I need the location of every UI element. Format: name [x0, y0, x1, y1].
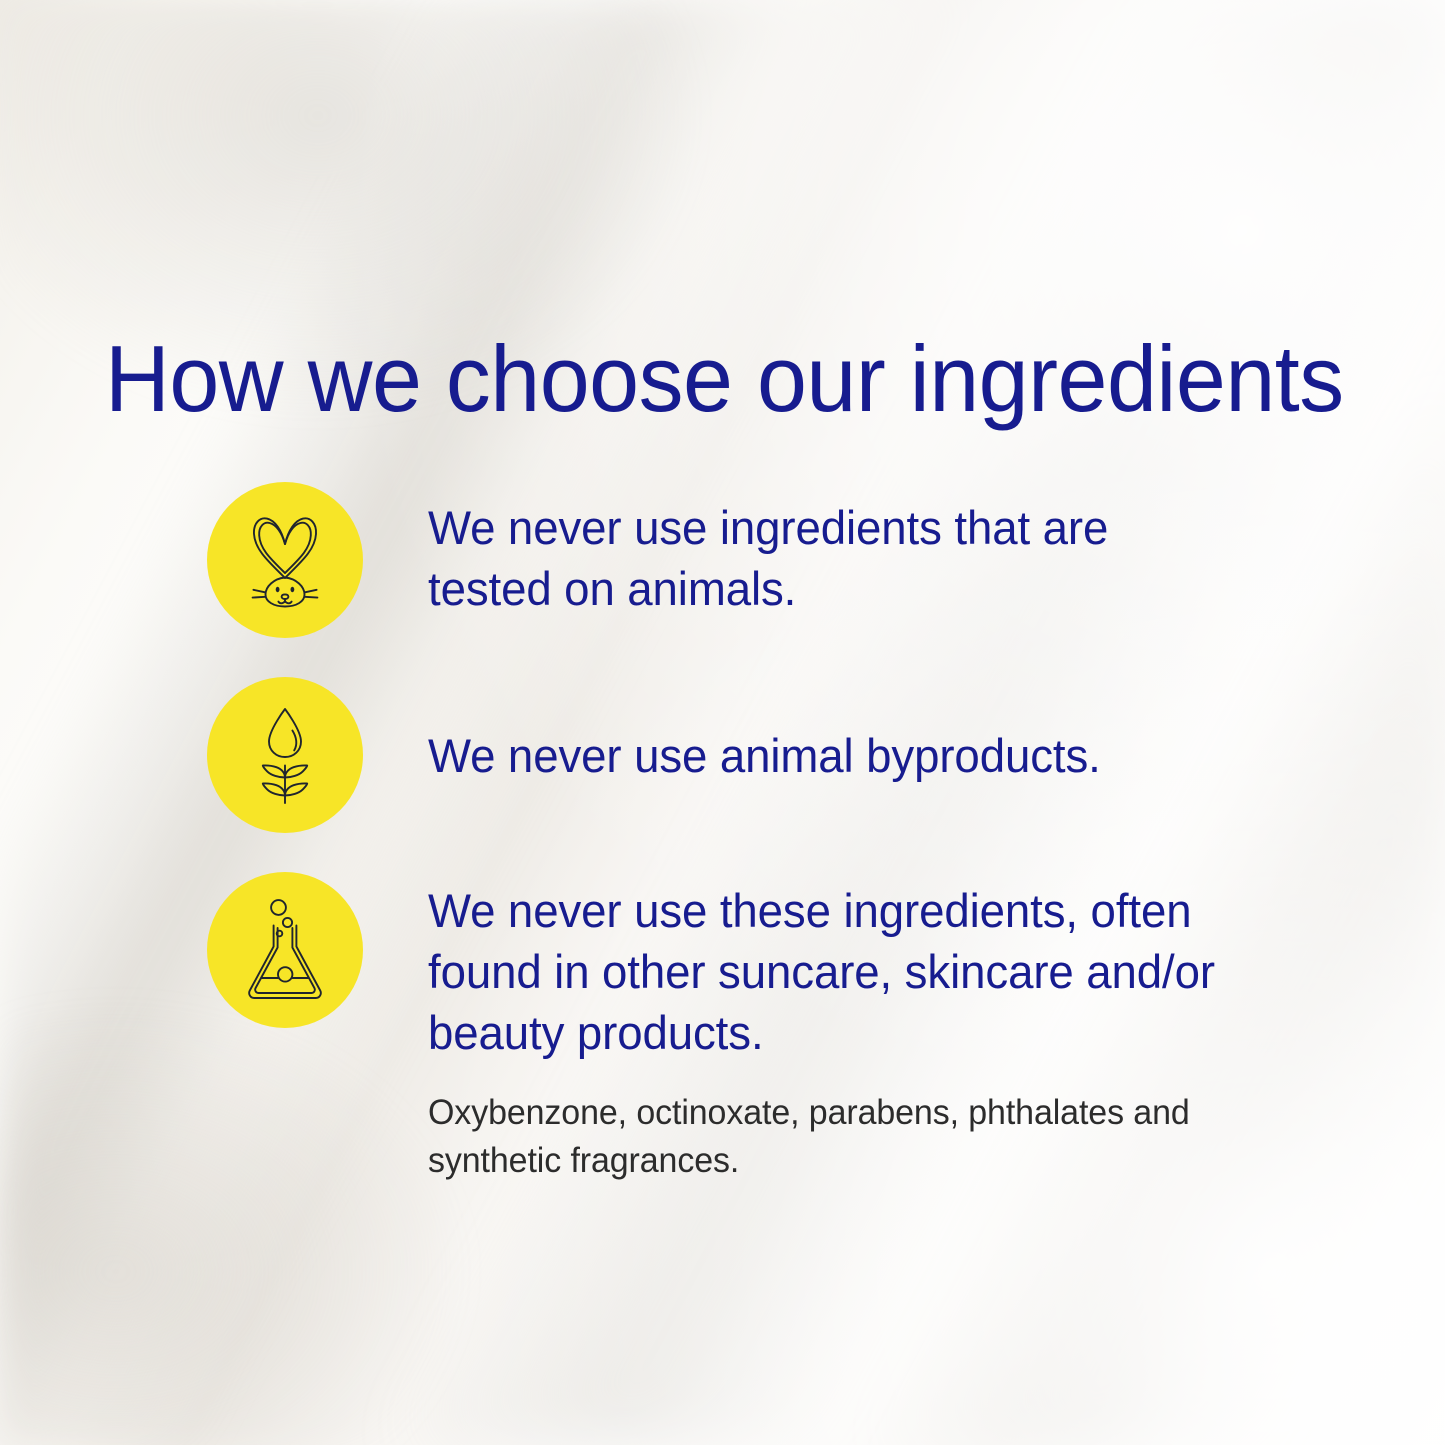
- claim-note: Oxybenzone, octinoxate, parabens, phthal…: [428, 1089, 1194, 1185]
- claim-text: We never use these ingredients, often fo…: [428, 880, 1291, 1063]
- bunny-heart-ears-icon: [207, 482, 363, 638]
- page-title: How we choose our ingredients: [105, 331, 1318, 427]
- droplet-plant-icon: [207, 677, 363, 833]
- flask-bubbles-icon: [207, 872, 363, 1028]
- infographic-card: How we choose our ingredients: [0, 0, 1445, 1445]
- claim-text: We never use ingredients that are tested…: [428, 497, 1204, 619]
- claim-text: We never use animal byproducts.: [428, 725, 1204, 786]
